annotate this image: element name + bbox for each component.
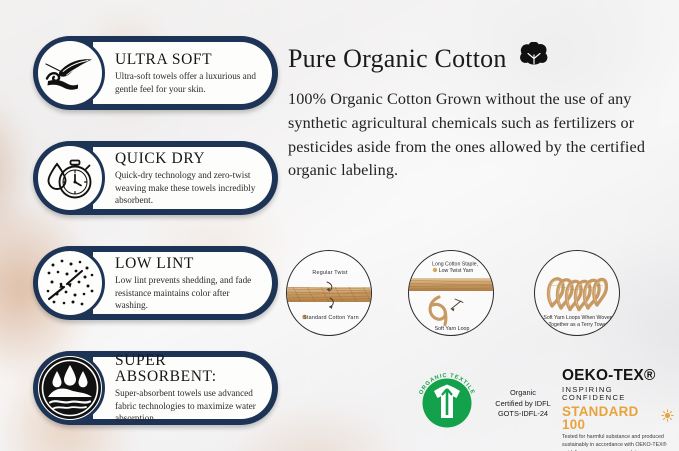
yarn-top-label-line1: Long Cotton Staple, — [432, 262, 478, 268]
page-title: Pure Organic Cotton — [288, 42, 666, 75]
oeko-title: OEKO-TEX® — [562, 368, 674, 383]
terry-label-line2: Together as a Terry Towel — [549, 322, 608, 328]
feature-title: ULTRA SOFT — [115, 52, 256, 68]
yarn-top-label-line2: Low Twist Yarn — [439, 268, 474, 274]
body-paragraph: 100% Organic Cotton Grown without the us… — [288, 88, 666, 183]
feature-description: Quick-dry technology and zero-twist weav… — [115, 169, 256, 206]
gots-organic-textile-standard-icon: ORGANIC TEXTILE GLOBAL · GOTS · STANDARD — [412, 368, 482, 438]
feature-title: LOW LINT — [115, 256, 256, 272]
pill-text-card: SUPER ABSORBENT: Super-absorbent towels … — [93, 357, 272, 419]
infographic-canvas: ULTRA SOFT Ultra-soft towels offer a lux… — [0, 0, 679, 451]
headline-text: Pure Organic Cotton — [288, 44, 507, 74]
feature-description: Super-absorbent towels use advanced fabr… — [115, 387, 256, 424]
pill-text-card: ULTRA SOFT Ultra-soft towels offer a lux… — [93, 42, 272, 104]
hand-feather-icon — [35, 38, 105, 108]
oeko-subtitle: INSPIRING CONFIDENCE — [562, 386, 674, 401]
pill-text-card: QUICK DRY Quick-dry technology and zero-… — [93, 147, 272, 209]
yarn-top-label: Regular Twist — [312, 270, 347, 276]
content-column: Pure Organic Cotton 100% Organic Cotton … — [288, 42, 666, 183]
feature-pill-low-lint: LOW LINT Low lint prevents shedding, and… — [33, 246, 278, 320]
certification-group: ORGANIC TEXTILE GLOBAL · GOTS · STANDARD… — [412, 360, 674, 444]
yarn-bottom-label: Standard Cotton Yarn — [303, 315, 359, 321]
oeko-standard-label: STANDARD 100 — [562, 405, 657, 432]
cert-line-2: Certified by IDFL — [490, 399, 556, 410]
water-absorption-icon — [35, 353, 105, 423]
stopwatch-droplet-icon — [35, 143, 105, 213]
oeko-standard-row: STANDARD 100 — [562, 405, 674, 432]
cert-line-3: GOTS-IDFL-24 — [490, 409, 556, 420]
sun-icon — [661, 409, 674, 427]
oeko-fine-text: Tested for harmful substance and produce… — [562, 434, 667, 451]
gots-certification-text: Organic Certified by IDFL GOTS-IDFL-24 — [490, 388, 556, 420]
yarn-diagram-group: Regular Twist Standard Cotton Yarn Lo — [286, 250, 676, 342]
yarn-diagram-low-twist: Long Cotton Staple, Low Twist Yarn Soft … — [408, 250, 494, 336]
feature-pill-ultra-soft: ULTRA SOFT Ultra-soft towels offer a lux… — [33, 36, 278, 110]
yarn-diagram-standard: Regular Twist Standard Cotton Yarn — [286, 250, 372, 336]
feature-title: QUICK DRY — [115, 151, 256, 167]
yarn-bottom-label: Soft Yarn Loop — [435, 326, 470, 332]
feature-pill-super-absorbent: SUPER ABSORBENT: Super-absorbent towels … — [33, 351, 278, 425]
terry-label-line1: Soft Yarn Loops When Woven — [543, 315, 612, 321]
feature-description: Ultra-soft towels offer a luxurious and … — [115, 70, 256, 94]
feature-list: ULTRA SOFT Ultra-soft towels offer a lux… — [33, 36, 278, 451]
cert-line-1: Organic — [490, 388, 556, 399]
feature-pill-quick-dry: QUICK DRY Quick-dry technology and zero-… — [33, 141, 278, 215]
yarn-diagram-terry-loops: Soft Yarn Loops When Woven Together as a… — [534, 250, 620, 336]
cotton-boll-icon — [519, 42, 549, 75]
feature-description: Low lint prevents shedding, and fade res… — [115, 274, 256, 311]
pill-text-card: LOW LINT Low lint prevents shedding, and… — [93, 252, 272, 314]
feature-title: SUPER ABSORBENT: — [115, 353, 256, 386]
lint-particles-icon — [35, 248, 105, 318]
oeko-fine-print: Tested for harmful substance and produce… — [562, 434, 674, 451]
oeko-tex-badge: OEKO-TEX® INSPIRING CONFIDENCE STANDARD … — [562, 368, 674, 451]
